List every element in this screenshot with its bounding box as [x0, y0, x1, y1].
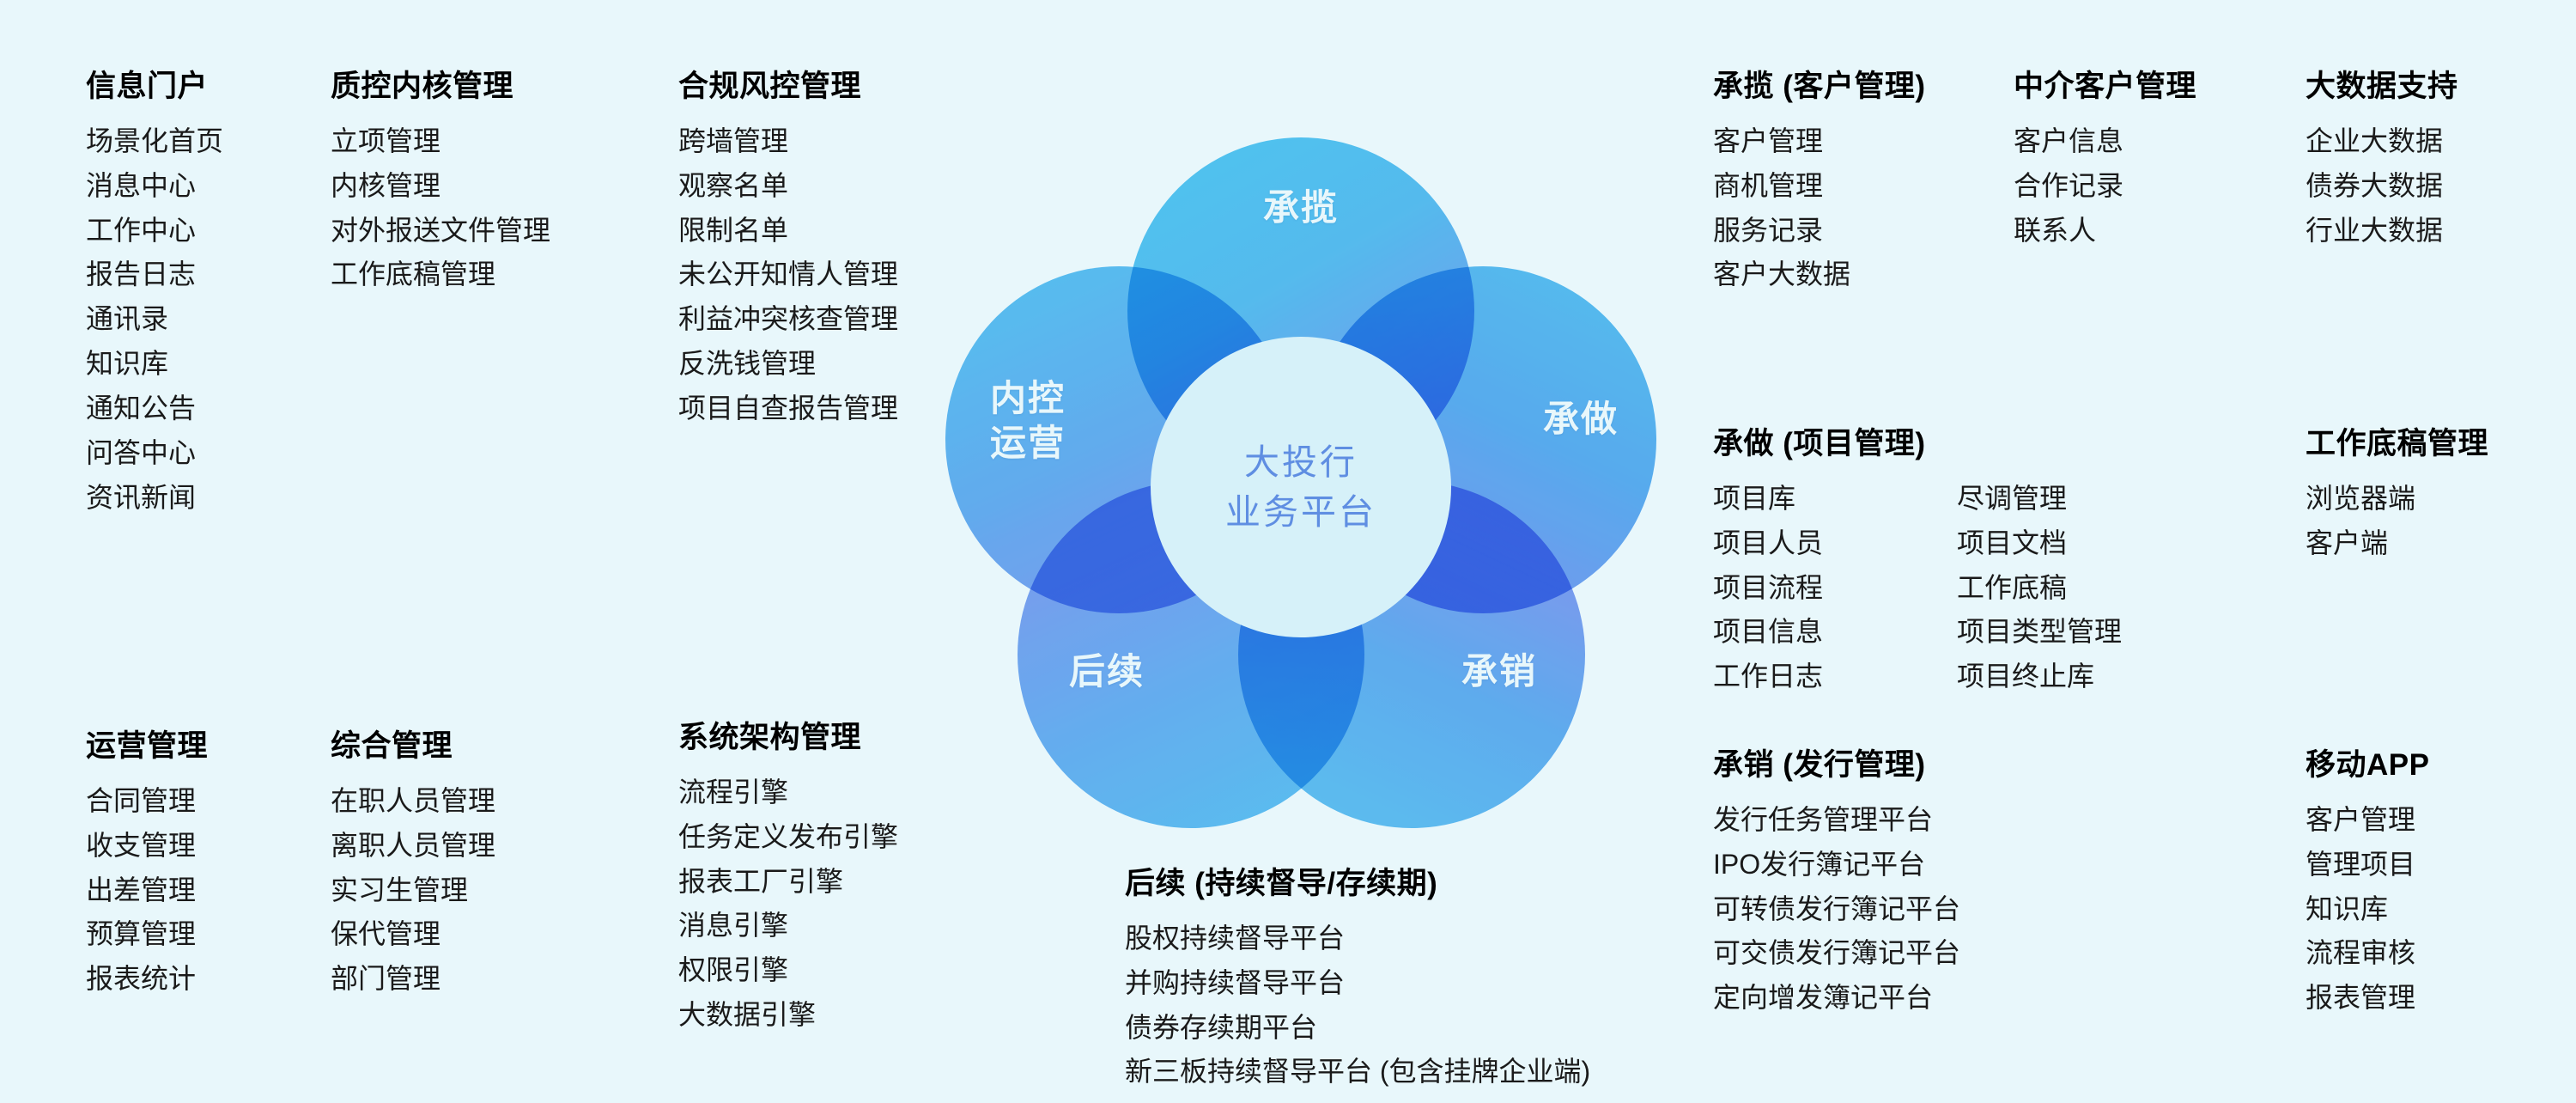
list-item[interactable]: 收支管理 [86, 824, 208, 868]
block-gongzuo-digao: 工作底稿管理 浏览器端 客户端 [2306, 419, 2488, 566]
block-title: 工作底稿管理 [2306, 419, 2488, 463]
list-item[interactable]: 离职人员管理 [331, 824, 495, 868]
list-item[interactable]: 未公开知情人管理 [678, 253, 898, 297]
list-item[interactable]: 跨墙管理 [678, 119, 898, 164]
block-chenglan-kehu: 承揽 (客户管理) 客户管理 商机管理 服务记录 客户大数据 [1713, 62, 1926, 297]
list-item[interactable]: 观察名单 [678, 164, 898, 209]
list-item[interactable]: 项目终止库 [1957, 655, 2122, 699]
list-item[interactable]: 股权持续督导平台 [1125, 917, 1590, 961]
block-yidong-app: 移动APP 客户管理 管理项目 知识库 流程审核 报表管理 [2306, 740, 2429, 1021]
list-item[interactable]: 定向增发簿记平台 [1713, 976, 1960, 1021]
list-item[interactable]: 债券存续期平台 [1125, 1006, 1590, 1051]
list-item[interactable]: 客户管理 [1713, 119, 1926, 164]
block-xitong-jiagou: 系统架构管理 流程引擎 任务定义发布引擎 报表工厂引擎 消息引擎 权限引擎 大数… [678, 713, 898, 1038]
list-item[interactable]: 场景化首页 [86, 119, 223, 164]
petal-label-line2: 运营 [990, 423, 1066, 463]
petal-label: 后续 [1069, 649, 1145, 694]
block-title: 移动APP [2306, 740, 2429, 784]
list-item[interactable]: 反洗钱管理 [678, 342, 898, 387]
list-item[interactable]: 客户端 [2306, 521, 2488, 566]
list-item[interactable]: 项目文档 [1957, 521, 2122, 566]
block-title: 运营管理 [86, 722, 208, 765]
list-item[interactable]: 可交债发行簿记平台 [1713, 931, 1960, 976]
block-title: 承揽 (客户管理) [1713, 62, 1926, 106]
list-item[interactable]: 对外报送文件管理 [331, 209, 550, 253]
list-item[interactable]: 权限引擎 [678, 948, 898, 993]
list-item[interactable]: 发行任务管理平台 [1713, 798, 1960, 843]
list-item[interactable]: 内核管理 [331, 164, 550, 209]
list-item[interactable]: 商机管理 [1713, 164, 1926, 209]
list-item[interactable]: 通讯录 [86, 297, 223, 342]
list-item[interactable]: 新三板持续督导平台 (包含挂牌企业端) [1125, 1050, 1590, 1094]
petal-label-line1: 内控 [990, 378, 1066, 418]
list-item[interactable]: 利益冲突核查管理 [678, 297, 898, 342]
list-item[interactable]: 预算管理 [86, 912, 208, 957]
list-item[interactable]: 资讯新闻 [86, 476, 223, 521]
block-title: 质控内核管理 [331, 62, 550, 106]
list-item[interactable]: 大数据引擎 [678, 993, 898, 1038]
list-item[interactable]: 问答中心 [86, 431, 223, 476]
block-xinxi-menhu: 信息门户 场景化首页 消息中心 工作中心 报告日志 通讯录 知识库 通知公告 问… [86, 62, 223, 520]
block-title: 承销 (发行管理) [1713, 740, 1960, 784]
list-item[interactable]: 消息引擎 [678, 904, 898, 948]
list-item[interactable]: 客户大数据 [1713, 253, 1926, 297]
diagram-canvas: 信息门户 场景化首页 消息中心 工作中心 报告日志 通讯录 知识库 通知公告 问… [0, 0, 2576, 1103]
list-item[interactable]: 企业大数据 [2306, 119, 2458, 164]
list-item[interactable]: 浏览器端 [2306, 477, 2488, 521]
block-zhikong-neihe: 质控内核管理 立项管理 内核管理 对外报送文件管理 工作底稿管理 [331, 62, 550, 297]
block-hegui-fengkong: 合规风控管理 跨墙管理 观察名单 限制名单 未公开知情人管理 利益冲突核查管理 … [678, 62, 898, 431]
chengzuo-subcol-left: 项目库 项目人员 项目流程 项目信息 工作日志 [1713, 477, 1823, 699]
list-item[interactable]: 知识库 [86, 342, 223, 387]
block-dashuju-zhichi: 大数据支持 企业大数据 债券大数据 行业大数据 [2306, 62, 2458, 253]
list-item[interactable]: 在职人员管理 [331, 779, 495, 824]
list-item[interactable]: 限制名单 [678, 209, 898, 253]
block-zhongjie-kehu: 中介客户管理 客户信息 合作记录 联系人 [2014, 62, 2196, 253]
list-item[interactable]: 服务记录 [1713, 209, 1926, 253]
list-item[interactable]: 任务定义发布引擎 [678, 815, 898, 860]
list-item[interactable]: 客户信息 [2014, 119, 2196, 164]
list-item[interactable]: 项目人员 [1713, 521, 1823, 566]
list-item[interactable]: 知识库 [2306, 887, 2429, 932]
block-chengzuo-xiangmu: 承做 (项目管理) 项目库 项目人员 项目流程 项目信息 工作日志 尽调管理 项… [1713, 419, 2122, 699]
list-item[interactable]: 客户管理 [2306, 798, 2429, 843]
list-item[interactable]: 合同管理 [86, 779, 208, 824]
block-title: 中介客户管理 [2014, 62, 2196, 106]
list-item[interactable]: IPO发行簿记平台 [1713, 843, 1960, 887]
list-item[interactable]: 工作底稿管理 [331, 253, 550, 297]
petal-label: 承做 [1543, 397, 1619, 442]
center-label-line2: 业务平台 [1225, 492, 1376, 532]
list-item[interactable]: 工作底稿 [1957, 566, 2122, 611]
list-item[interactable]: 并购持续督导平台 [1125, 961, 1590, 1006]
block-title: 系统架构管理 [678, 713, 898, 757]
list-item[interactable]: 项目类型管理 [1957, 610, 2122, 655]
list-item[interactable]: 流程审核 [2306, 931, 2429, 976]
list-item[interactable]: 出差管理 [86, 868, 208, 913]
list-item[interactable]: 工作日志 [1713, 655, 1823, 699]
list-item[interactable]: 合作记录 [2014, 164, 2196, 209]
block-yunying-guanli: 运营管理 合同管理 收支管理 出差管理 预算管理 报表统计 [86, 722, 208, 1002]
list-item[interactable]: 项目流程 [1713, 566, 1823, 611]
list-item[interactable]: 工作中心 [86, 209, 223, 253]
venn-flower-diagram: 内控 运营 承做 后续 承销 承揽 大投行 业务平台 [932, 137, 1670, 868]
list-item[interactable]: 部门管理 [331, 957, 495, 1002]
block-title: 综合管理 [331, 722, 495, 765]
list-item[interactable]: 联系人 [2014, 209, 2196, 253]
list-item[interactable]: 报告日志 [86, 253, 223, 297]
list-item[interactable]: 行业大数据 [2306, 209, 2458, 253]
list-item[interactable]: 消息中心 [86, 164, 223, 209]
list-item[interactable]: 可转债发行簿记平台 [1713, 887, 1960, 932]
list-item[interactable]: 项目库 [1713, 477, 1823, 521]
list-item[interactable]: 债券大数据 [2306, 164, 2458, 209]
diagram-center-circle[interactable]: 大投行 业务平台 [1151, 337, 1451, 637]
list-item[interactable]: 报表统计 [86, 957, 208, 1002]
chengzuo-subcol-right: 尽调管理 项目文档 工作底稿 项目类型管理 项目终止库 [1957, 477, 2122, 699]
block-zonghe-guanli: 综合管理 在职人员管理 离职人员管理 实习生管理 保代管理 部门管理 [331, 722, 495, 1002]
list-item[interactable]: 保代管理 [331, 912, 495, 957]
list-item[interactable]: 流程引擎 [678, 771, 898, 815]
center-label-line1: 大投行 [1244, 442, 1358, 482]
petal-label: 承揽 [1263, 186, 1339, 230]
list-item[interactable]: 实习生管理 [331, 868, 495, 913]
list-item[interactable]: 通知公告 [86, 387, 223, 431]
block-chengxiao-faxing: 承销 (发行管理) 发行任务管理平台 IPO发行簿记平台 可转债发行簿记平台 可… [1713, 740, 1960, 1021]
list-item[interactable]: 报表工厂引擎 [678, 860, 898, 905]
list-item[interactable]: 项目自查报告管理 [678, 387, 898, 431]
block-title: 信息门户 [86, 62, 223, 106]
block-houxu-dudao: 后续 (持续督导/存续期) 股权持续督导平台 并购持续督导平台 债券存续期平台 … [1125, 859, 1590, 1094]
list-item[interactable]: 立项管理 [331, 119, 550, 164]
list-item[interactable]: 管理项目 [2306, 843, 2429, 887]
list-item[interactable]: 项目信息 [1713, 610, 1823, 655]
block-title: 承做 (项目管理) [1713, 419, 2122, 463]
list-item[interactable]: 尽调管理 [1957, 477, 2122, 521]
block-title: 合规风控管理 [678, 62, 898, 106]
list-item[interactable]: 报表管理 [2306, 976, 2429, 1021]
petal-label: 承销 [1461, 649, 1537, 694]
block-title: 大数据支持 [2306, 62, 2458, 106]
